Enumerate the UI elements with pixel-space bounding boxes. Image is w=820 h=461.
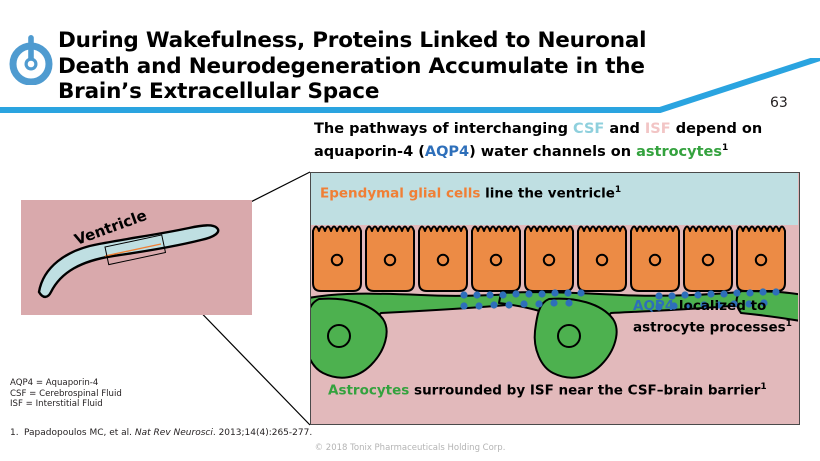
slide-root: During Wakefulness, Proteins Linked to N… <box>0 0 820 461</box>
lead-part-2: and <box>604 121 645 137</box>
aqp4-keyword: AQP4 <box>633 298 674 314</box>
aqp4-annotation: AQP4 localized to astrocyte processes1 <box>633 297 793 337</box>
copyright-notice: © 2018 Tonix Pharmaceuticals Holding Cor… <box>0 443 820 453</box>
title-line-1: During Wakefulness, Proteins Linked to N… <box>58 28 748 54</box>
page-number: 63 <box>770 95 800 111</box>
astrocyte-superscript: 1 <box>760 382 766 392</box>
lead-superscript: 1 <box>722 143 728 153</box>
lead-csf-keyword: CSF <box>573 121 604 137</box>
lead-aqp4-keyword: AQP4 <box>425 144 469 160</box>
ependymal-annotation: Ependymal glial cells line the ventricle… <box>320 185 621 202</box>
abbreviation-item: AQP4 = Aquaporin-4 <box>10 378 122 389</box>
ependymal-rest: line the ventricle <box>480 186 614 202</box>
aqp4-superscript: 1 <box>786 319 792 329</box>
header-accent-line <box>0 58 820 118</box>
abbreviation-item: CSF = Cerebrospinal Fluid <box>10 389 122 400</box>
abbreviations-list: AQP4 = Aquaporin-4 CSF = Cerebrospinal F… <box>10 378 122 410</box>
citation-journal: Nat Rev Neurosci <box>135 428 213 438</box>
astrocyte-annotation: Astrocytes surrounded by ISF near the CS… <box>328 378 768 400</box>
lead-astrocytes-keyword: astrocytes <box>636 144 722 160</box>
ependymal-superscript: 1 <box>615 185 621 195</box>
citation-details: . 2013;14(4):265-277. <box>213 428 312 438</box>
lead-part-3: depend on <box>671 121 763 137</box>
astrocyte-keyword: Astrocytes <box>328 383 409 399</box>
ependymal-cell-layer <box>313 227 785 292</box>
lead-part-1: The pathways of interchanging <box>314 121 573 137</box>
citation-number: 1. <box>10 428 24 438</box>
lead-isf-keyword: ISF <box>645 121 671 137</box>
lead-text: The pathways of interchanging CSF and IS… <box>314 120 814 162</box>
citation: 1.Papadopoulos MC, et al. Nat Rev Neuros… <box>10 428 490 438</box>
ependymal-keyword: Ependymal glial cells <box>320 186 480 202</box>
abbreviation-item: ISF = Interstitial Fluid <box>10 399 122 410</box>
lead-part-5: ) water channels on <box>469 144 636 160</box>
astrocyte-rest: surrounded by ISF near the CSF–brain bar… <box>409 383 760 399</box>
citation-authors: Papadopoulos MC, et al. <box>24 428 135 438</box>
lead-part-4: aquaporin-4 ( <box>314 144 425 160</box>
